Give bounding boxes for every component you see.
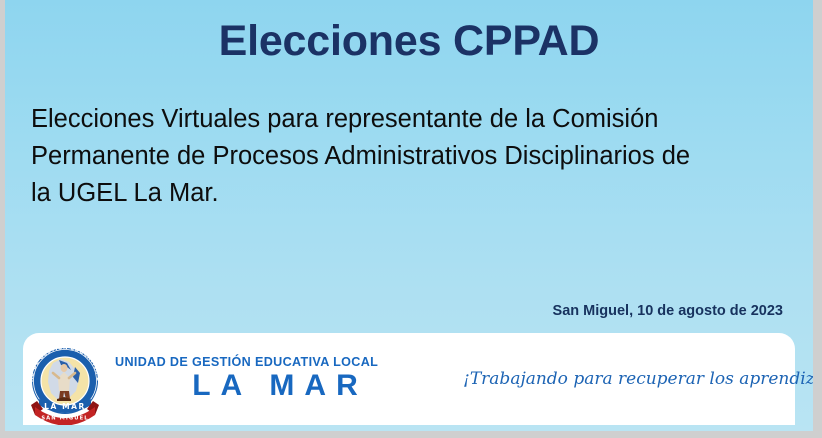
ugel-name-line: LA MAR bbox=[115, 370, 415, 402]
body-line-1: Elecciones Virtuales para representante … bbox=[31, 101, 791, 138]
footer-panel: UNIDAD DE GESTIÓN EDUCATIVA LOCAL LA MAR… bbox=[23, 333, 795, 425]
svg-text:LA MAR: LA MAR bbox=[44, 402, 86, 411]
body-line-2: Permanente de Procesos Administrativos D… bbox=[31, 138, 791, 175]
presentation-slide: Elecciones CPPAD Elecciones Virtuales pa… bbox=[0, 0, 822, 438]
footer-slogan: ¡Trabajando para recuperar los aprendiza… bbox=[463, 369, 783, 389]
ugel-wordmark: UNIDAD DE GESTIÓN EDUCATIVA LOCAL LA MAR bbox=[115, 355, 415, 402]
body-line-3: la UGEL La Mar. bbox=[31, 175, 791, 212]
slide-canvas: Elecciones CPPAD Elecciones Virtuales pa… bbox=[5, 0, 813, 431]
ugel-seal-logo-icon: UNIDAD DE GESTIÓN EDUCATIVA LOCAL LA MAR… bbox=[23, 337, 107, 425]
date-location-text: San Miguel, 10 de agosto de 2023 bbox=[553, 303, 783, 319]
svg-text:SAN MIGUEL: SAN MIGUEL bbox=[41, 416, 88, 422]
page-title: Elecciones CPPAD bbox=[5, 18, 813, 65]
ugel-org-line: UNIDAD DE GESTIÓN EDUCATIVA LOCAL bbox=[115, 355, 415, 369]
slide-body-text: Elecciones Virtuales para representante … bbox=[31, 101, 791, 212]
